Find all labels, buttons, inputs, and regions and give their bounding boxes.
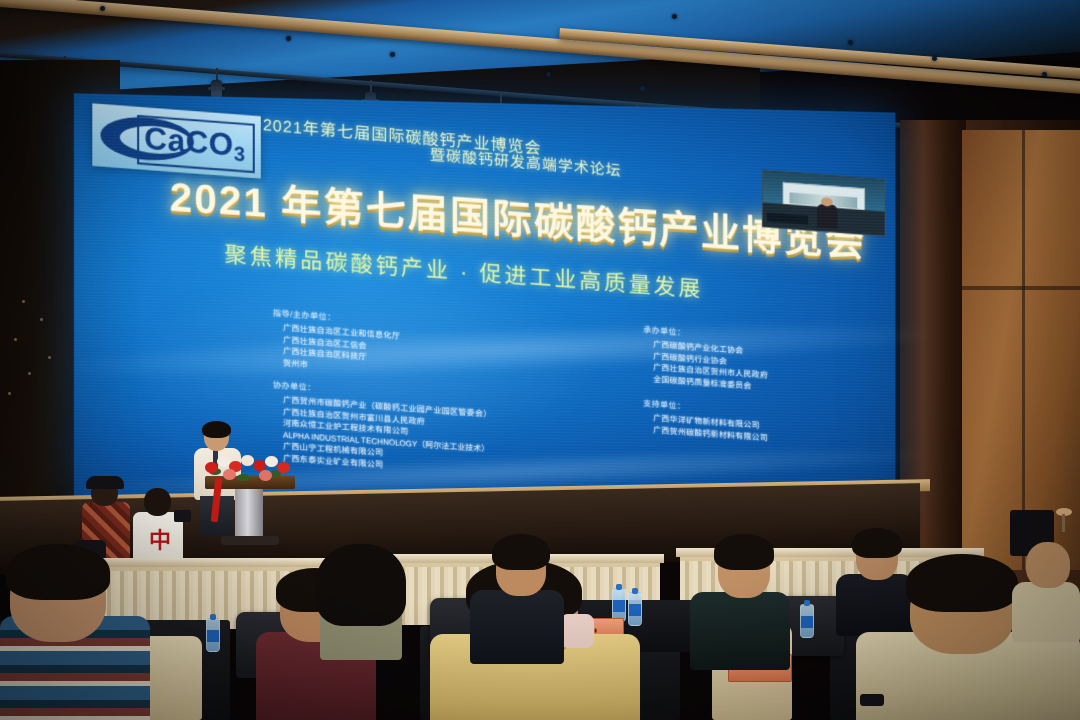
flower-white [265, 456, 278, 467]
woman-long-hair [316, 544, 406, 626]
wristwatch [860, 694, 884, 706]
striped-polo-hair [6, 544, 110, 600]
wall-sparkle-5 [28, 372, 31, 375]
speaker-hair [202, 421, 231, 438]
beige-front-hair [906, 554, 1018, 612]
sponsor-column-right-top: 承办单位： 广西碳酸钙产业化工协会 广西碳酸钙行业协会 广西壮族自治区贺州市人民… [643, 324, 768, 393]
ceiling-downlight-5 [640, 86, 645, 91]
ceiling-downlight-9 [1042, 72, 1047, 77]
audience-person-suit-left [470, 534, 564, 654]
table-lamp-stem [1062, 514, 1065, 532]
flower-pink [259, 470, 272, 481]
conference-hall-photo: CaCO3 2021年第七届国际碳酸钙产业博览会 暨碳酸钙研发高端学术论坛 20… [0, 0, 1080, 720]
audience-person-woman-black-hair [316, 542, 406, 652]
flower-arrangement [203, 452, 299, 486]
flower-leaf [237, 474, 249, 481]
caco3-logo-main: CaCO [144, 120, 233, 162]
ceiling-downlight-6 [672, 14, 677, 19]
suit-center-body [690, 592, 790, 670]
ceiling-downlight-4 [546, 72, 551, 77]
audience-person-suit-center [690, 534, 790, 658]
ceiling-downlight-2 [286, 36, 291, 41]
sponsor-column-right-bottom: 支持单位： 广西华洋矿物新材料有限公司 广西贺州碳酸钙新材料有限公司 [643, 398, 768, 444]
suit-center-hair [714, 534, 774, 570]
audience-person-edge-right [1012, 538, 1080, 634]
caco3-logo-text: CaCO3 [141, 116, 249, 168]
right-wood-panel [962, 130, 1080, 570]
pip-remote-speaker [817, 204, 838, 229]
edge-right-body [1012, 582, 1080, 642]
sponsor-column-left-top: 指导/主办单位： 广西壮族自治区工业和信息化厅 广西壮族自治区工信会 广西壮族自… [273, 308, 400, 377]
ceiling-downlight-7 [848, 40, 853, 45]
flower-red [205, 462, 218, 473]
wall-sparkle-1 [22, 300, 25, 303]
edge-right-head [1026, 542, 1070, 588]
photographer-white-head [144, 488, 171, 516]
wood-seam-1 [962, 286, 1080, 290]
caco3-logo-subscript: 3 [234, 143, 246, 166]
ceiling-downlight-1 [100, 6, 105, 11]
sponsor-column-left-bottom: 协办单位： 广西贺州市碳酸钙产业（碳酸钙工业园产业园区管委会） 广西壮族自治区贺… [273, 380, 492, 478]
photographer-cap [86, 476, 124, 489]
wall-sparkle-6 [8, 392, 11, 395]
podium [205, 452, 295, 544]
flower-pink [223, 469, 236, 480]
ceiling-downlight-3 [390, 52, 395, 57]
water-bottle-5 [206, 618, 220, 652]
podium-column [235, 488, 263, 538]
picture-in-picture-video [762, 170, 886, 237]
water-bottle-3 [800, 604, 814, 638]
audience-person-striped [0, 540, 150, 720]
wood-seam-2 [1022, 130, 1025, 570]
ceiling-downlight-8 [932, 56, 937, 61]
wall-sparkle-2 [40, 318, 43, 321]
podium-base [221, 536, 279, 545]
suit-left-hair [492, 534, 550, 570]
tshirt-chinese-glyph: 中 [149, 530, 171, 552]
camera-icon [174, 510, 191, 522]
wall-sparkle-3 [14, 338, 17, 341]
flower-red [277, 462, 290, 473]
face-mask [560, 614, 594, 648]
suit-left-body [470, 590, 564, 664]
